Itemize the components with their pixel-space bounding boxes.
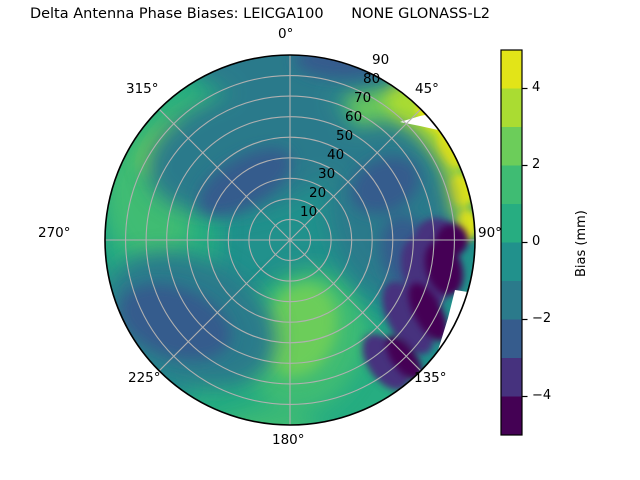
colorbar-band-m1-0 <box>501 243 522 282</box>
colorbar-band-3-4 <box>501 89 522 128</box>
colorbar-band-1-2 <box>501 166 522 205</box>
colorbar-ticks <box>522 89 528 397</box>
colorbar-axis-label: Bias (mm) <box>574 210 589 277</box>
colorbar-band-m4-m3 <box>501 358 522 397</box>
colorbar-band-4-5 <box>501 50 522 89</box>
colorbar-band-2-3 <box>501 127 522 166</box>
colorbar-tick-label-m2: −2 <box>532 311 551 326</box>
colorbar-tick-label-4: 4 <box>532 80 540 95</box>
colorbar-band-m3-m2 <box>501 320 522 359</box>
colorbar-tick-label-m4: −4 <box>532 388 551 403</box>
colorbar-svg <box>0 0 640 480</box>
figure-canvas: Delta Antenna Phase Biases: LEICGA100 NO… <box>0 0 640 480</box>
colorbar-band-m5-m4 <box>501 397 522 436</box>
colorbar-band-0-1 <box>501 204 522 243</box>
colorbar-band-m2-m1 <box>501 281 522 320</box>
colorbar-tick-label-0: 0 <box>532 234 540 249</box>
colorbar-bands <box>501 50 522 435</box>
colorbar-tick-label-2: 2 <box>532 157 540 172</box>
